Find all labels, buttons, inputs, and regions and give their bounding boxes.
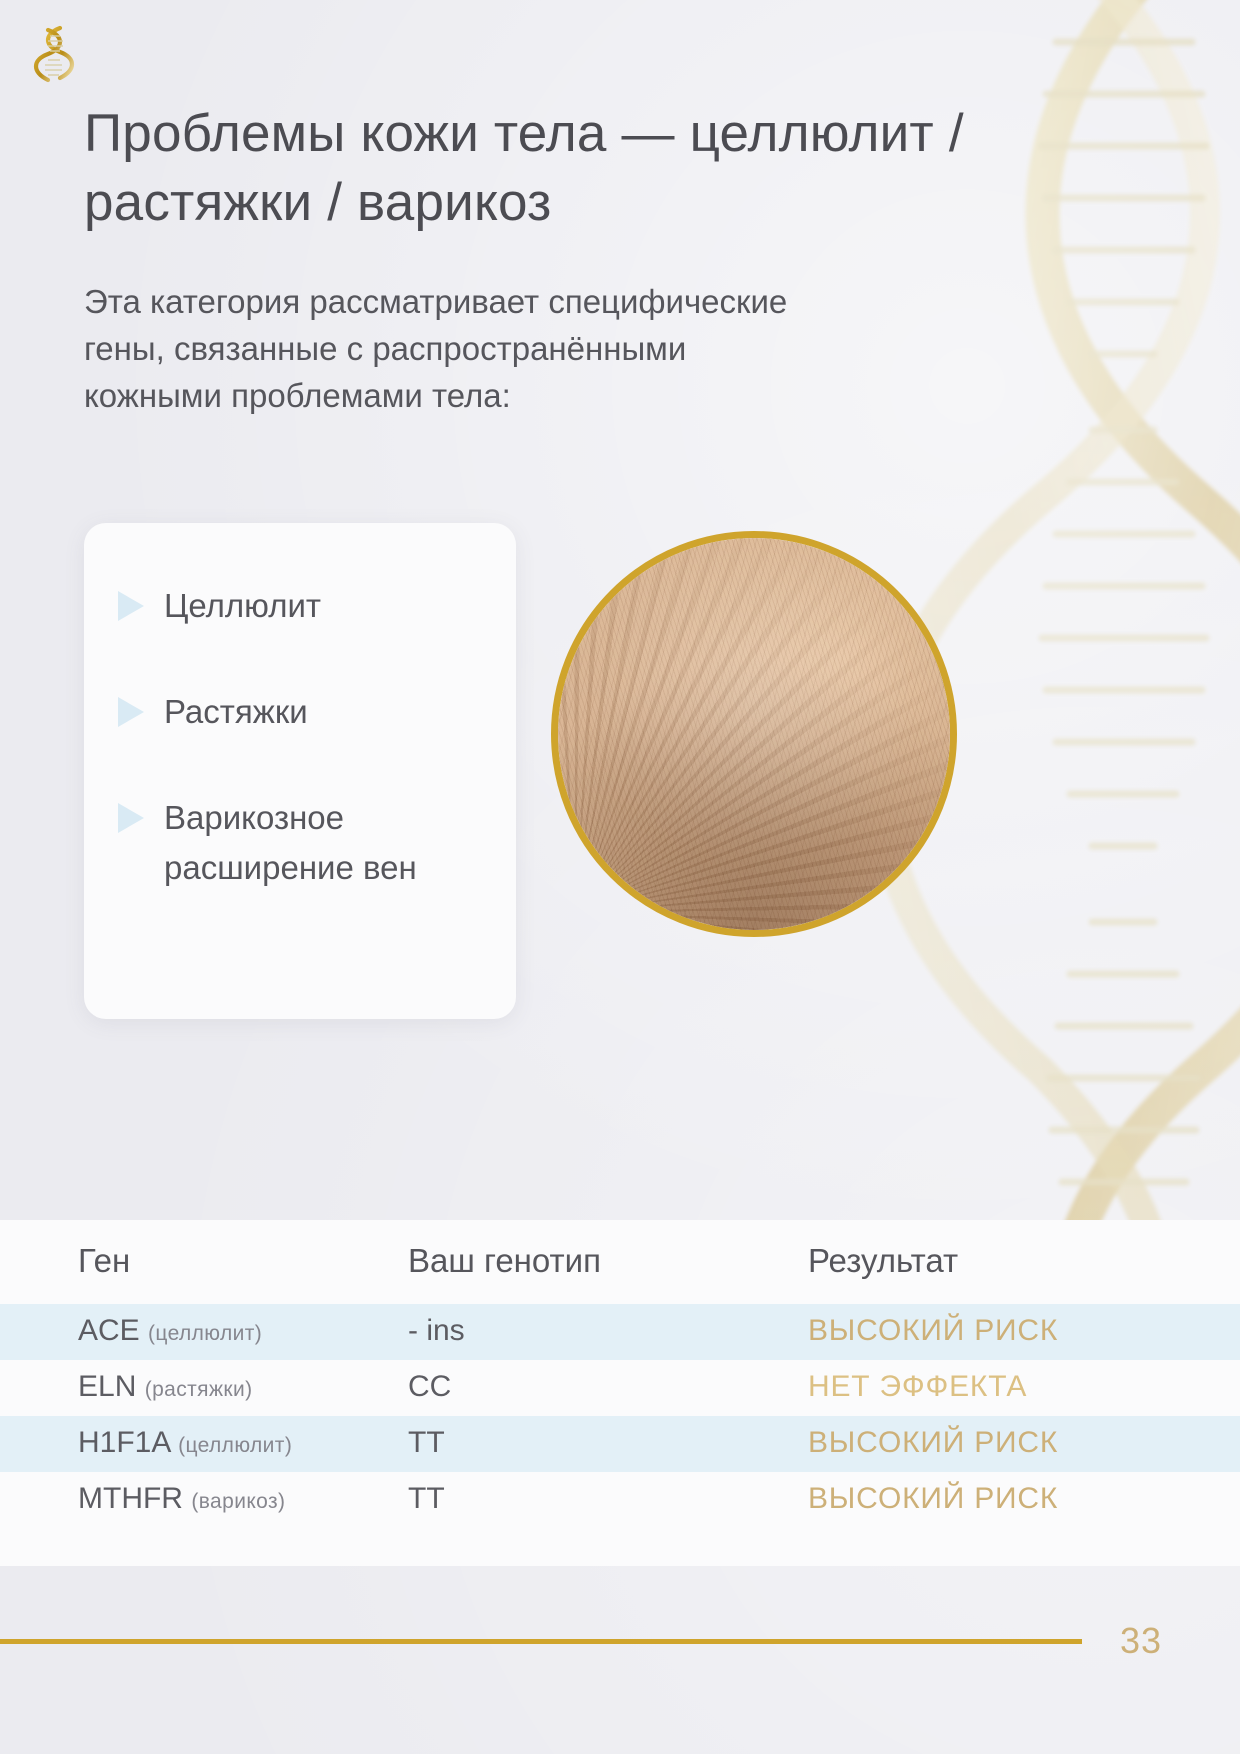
cell-genotype: TT: [408, 1472, 808, 1528]
skin-shading-overlay: [558, 538, 950, 930]
column-header-gene: Ген: [0, 1220, 408, 1304]
gene-note: (целлюлит): [148, 1322, 262, 1345]
table-row: H1F1A (целлюлит) TT ВЫСОКИЙ РИСК: [0, 1416, 1240, 1472]
list-item: Целлюлит: [106, 581, 482, 631]
status-badge: ВЫСОКИЙ РИСК: [808, 1426, 1058, 1459]
cell-result: ВЫСОКИЙ РИСК: [808, 1416, 1240, 1472]
gene-note: (варикоз): [191, 1490, 285, 1513]
list-item-label: Целлюлит: [164, 581, 321, 631]
cell-genotype: CC: [408, 1360, 808, 1416]
conditions-list: Целлюлит Растяжки Варикозное расширение …: [84, 523, 516, 894]
dna-helix-icon: [30, 22, 78, 84]
status-badge: НЕТ ЭФФЕКТА: [808, 1370, 1027, 1403]
page-title: Проблемы кожи тела — целлюлит / растяжки…: [84, 0, 964, 238]
table-row: MTHFR (варикоз) TT ВЫСОКИЙ РИСК: [0, 1472, 1240, 1528]
footer-divider: [0, 1639, 1082, 1644]
list-item-label: Растяжки: [164, 687, 308, 737]
cell-result: ВЫСОКИЙ РИСК: [808, 1304, 1240, 1360]
gene-name: H1F1A: [78, 1426, 170, 1459]
gene-note: (растяжки): [145, 1378, 253, 1401]
page-number: 33: [1120, 1620, 1240, 1662]
table-row: ACE (целлюлит) - ins ВЫСОКИЙ РИСК: [0, 1304, 1240, 1360]
column-header-result: Результат: [808, 1220, 1240, 1304]
status-badge: ВЫСОКИЙ РИСК: [808, 1314, 1058, 1347]
column-header-genotype: Ваш генотип: [408, 1220, 808, 1304]
cell-genotype: TT: [408, 1416, 808, 1472]
intro-paragraph: Эта категория рассматривает специфически…: [84, 278, 804, 420]
cell-genotype: - ins: [408, 1304, 808, 1360]
triangle-right-icon: [118, 591, 144, 621]
gene-results-table: Ген Ваш генотип Результат ACE (целлюлит)…: [0, 1220, 1240, 1566]
gene-name: ACE: [78, 1314, 140, 1347]
list-item: Варикозное расширение вен: [106, 793, 482, 893]
gene-name: MTHFR: [78, 1482, 183, 1515]
main-content: Проблемы кожи тела — целлюлит / растяжки…: [0, 0, 1240, 419]
cell-gene: MTHFR (варикоз): [0, 1472, 408, 1528]
list-item-label: Варикозное расширение вен: [164, 793, 482, 893]
cell-result: ВЫСОКИЙ РИСК: [808, 1472, 1240, 1528]
cell-gene: H1F1A (целлюлит): [0, 1416, 408, 1472]
status-badge: ВЫСОКИЙ РИСК: [808, 1482, 1058, 1515]
skin-closeup-photo: [551, 531, 957, 937]
gene-note: (целлюлит): [178, 1434, 292, 1457]
table-row: ELN (растяжки) CC НЕТ ЭФФЕКТА: [0, 1360, 1240, 1416]
triangle-right-icon: [118, 803, 144, 833]
cell-gene: ACE (целлюлит): [0, 1304, 408, 1360]
conditions-card: Целлюлит Растяжки Варикозное расширение …: [84, 523, 516, 1019]
table-header-row: Ген Ваш генотип Результат: [0, 1220, 1240, 1304]
cell-gene: ELN (растяжки): [0, 1360, 408, 1416]
cell-result: НЕТ ЭФФЕКТА: [808, 1360, 1240, 1416]
triangle-right-icon: [118, 697, 144, 727]
list-item: Растяжки: [106, 687, 482, 737]
page-footer: 33: [0, 1620, 1240, 1662]
gene-name: ELN: [78, 1370, 136, 1403]
